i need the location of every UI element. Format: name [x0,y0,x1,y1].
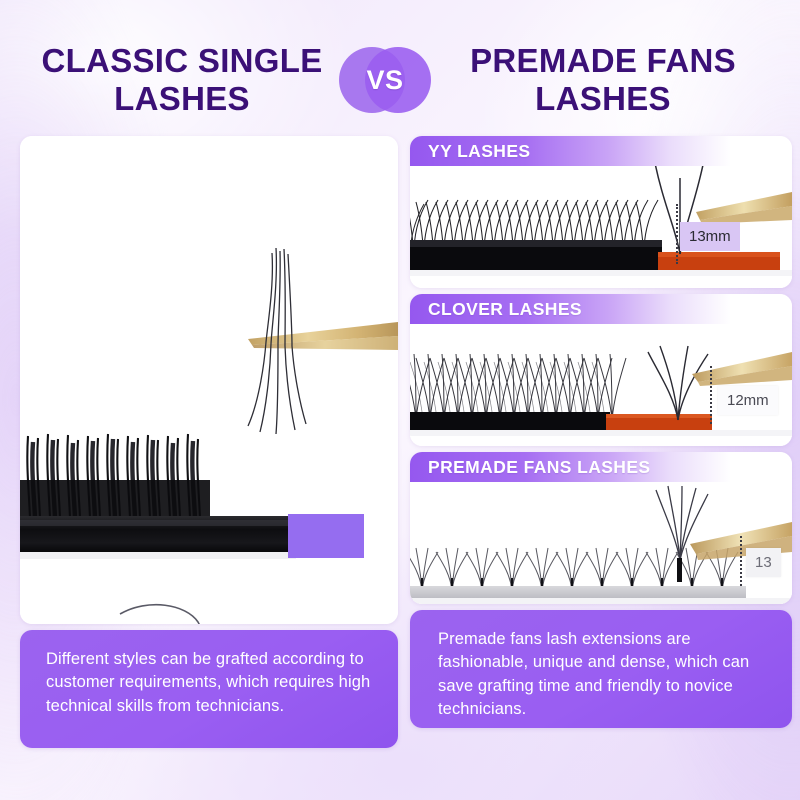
section-label-clover: CLOVER LASHES [410,294,792,324]
section-body-clover: 12mm [410,324,792,446]
section-label-yy: YY LASHES [410,136,792,166]
vs-badge: VS [337,41,433,119]
premade-fans-illustration [410,482,792,604]
premade-measure-text: 13 [755,554,772,571]
clover-measure-dotline [710,366,712,424]
left-caption-card: Different styles can be grafted accordin… [20,630,398,748]
comparison-stage: Different styles can be grafted accordin… [0,136,800,748]
left-caption-text: Different styles can be grafted accordin… [46,650,370,715]
section-premade-fans: PREMADE FANS LASHES [410,452,792,604]
clover-lash-illustration [410,324,792,446]
yy-measure-chip: 13mm [680,222,740,251]
section-yy-lashes: YY LASHES [410,136,792,288]
section-label-yy-text: YY LASHES [410,141,530,162]
left-title: CLASSIC SINGLE LASHES [27,42,337,117]
right-column: YY LASHES [410,136,792,748]
clover-measure-chip: 12mm [718,386,778,415]
classic-lash-illustration [20,136,398,624]
clover-measure-text: 12mm [727,392,769,409]
right-caption-card: Premade fans lash extensions are fashion… [410,610,792,728]
classic-lash-image-card [20,136,398,624]
section-clover-lashes: CLOVER LASHES [410,294,792,446]
header: CLASSIC SINGLE LASHES VS PREMADE FANS LA… [0,30,800,130]
vs-label: VS [366,65,403,96]
premade-measure-chip: 13 [746,548,781,577]
premade-measure-dotline [740,536,742,586]
left-column: Different styles can be grafted accordin… [20,136,398,748]
right-title: PREMADE FANS LASHES [433,42,773,117]
yy-measure-dotline [676,204,678,264]
section-body-premade: 13 [410,482,792,604]
yy-measure-text: 13mm [689,228,731,245]
section-label-premade: PREMADE FANS LASHES [410,452,792,482]
right-caption-text: Premade fans lash extensions are fashion… [438,630,749,718]
section-label-clover-text: CLOVER LASHES [410,299,582,320]
section-label-premade-text: PREMADE FANS LASHES [410,457,651,478]
section-body-yy: 13mm [410,166,792,288]
